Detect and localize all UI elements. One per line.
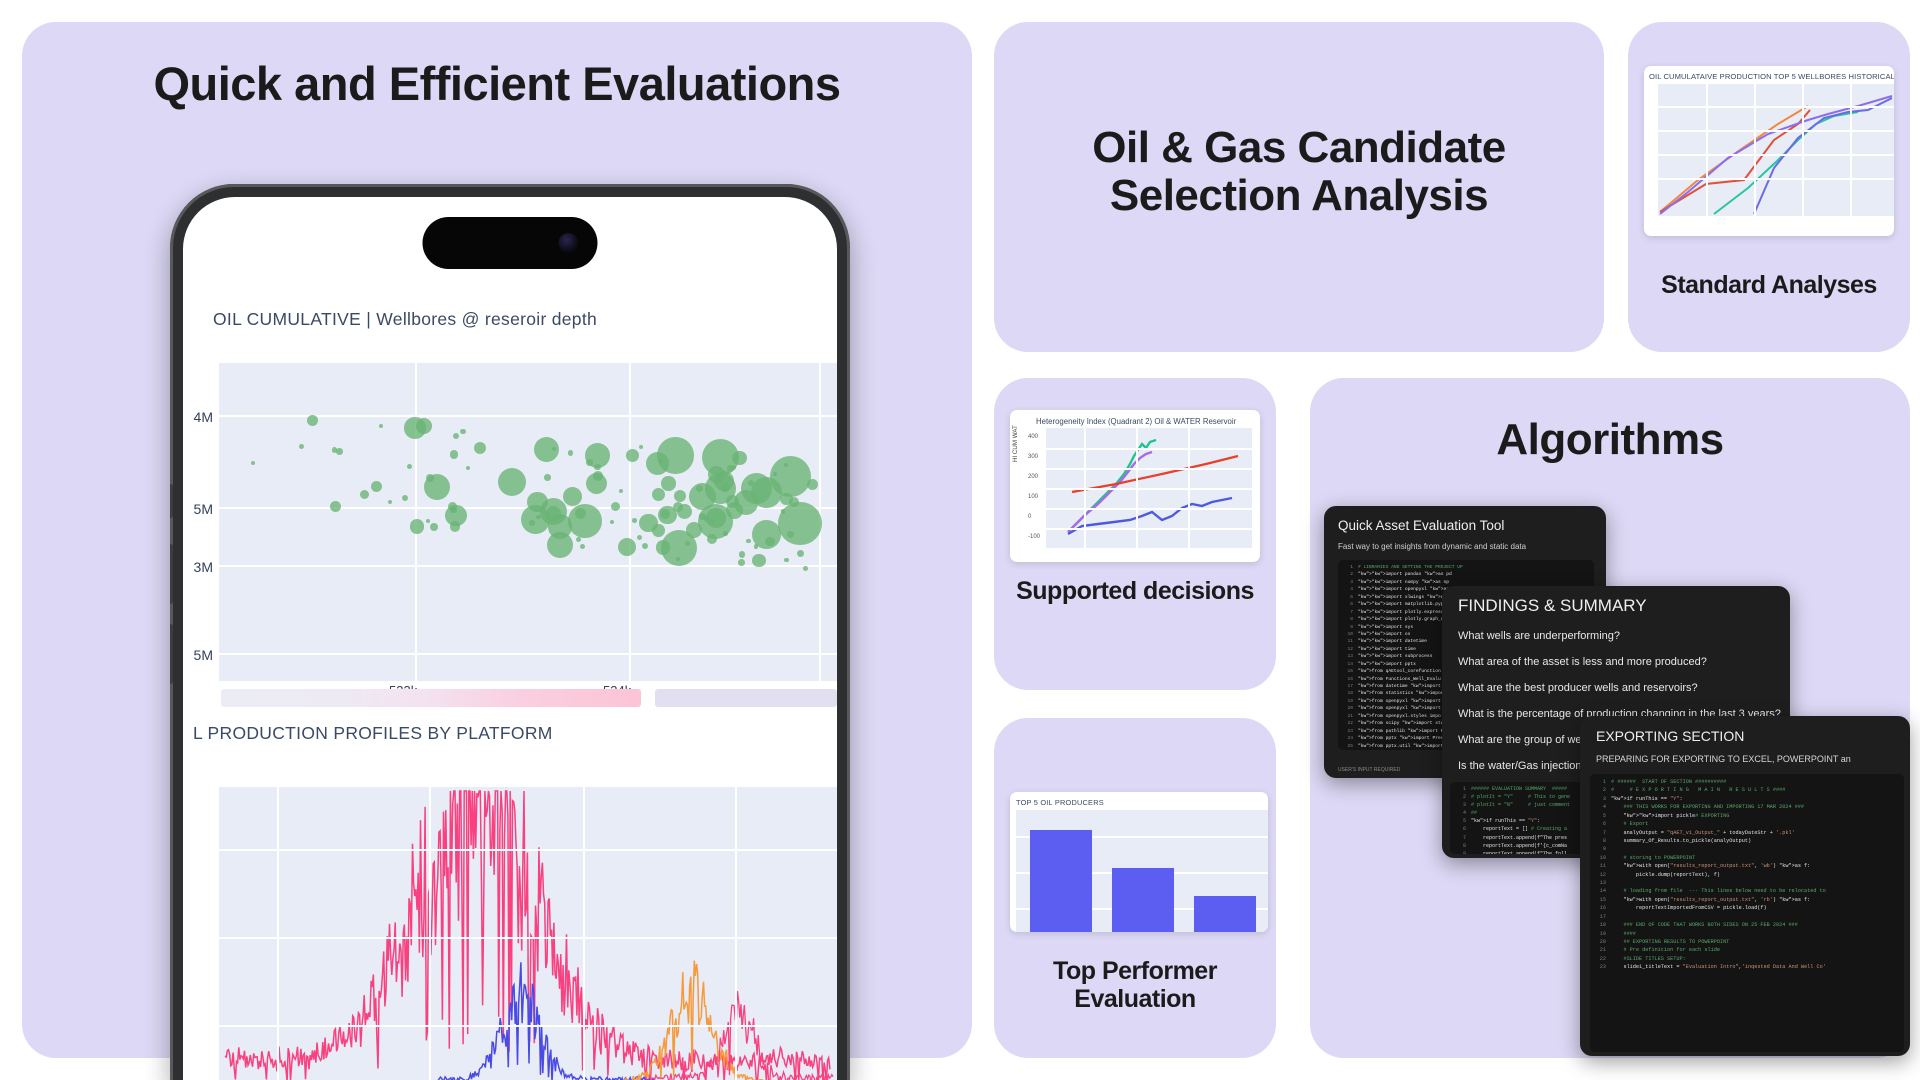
standard-analyses-chart-title: OIL CUMULATAIVE PRODUCTION TOP 5 WELLBOR… bbox=[1649, 72, 1894, 81]
ytick: 400 bbox=[1028, 434, 1038, 440]
gridline bbox=[219, 653, 837, 655]
bubble-point bbox=[611, 502, 620, 511]
bubble-point bbox=[660, 509, 670, 519]
gridline bbox=[1188, 428, 1190, 548]
window-findings-heading: FINDINGS & SUMMARY bbox=[1458, 596, 1647, 616]
bubble-point bbox=[445, 505, 467, 527]
bubble-point bbox=[656, 540, 671, 555]
bubble-point bbox=[416, 418, 432, 434]
bubble-point bbox=[371, 481, 382, 492]
bubble-point bbox=[738, 559, 745, 566]
bubble-point bbox=[424, 474, 450, 500]
phone-chart-1-ytick-3: 5M bbox=[183, 647, 213, 663]
bar-2 bbox=[1112, 868, 1174, 932]
gridline bbox=[1046, 468, 1252, 470]
phone-chart-2-title: L PRODUCTION PROFILES BY PLATFORM bbox=[193, 723, 553, 744]
gridline bbox=[277, 787, 279, 1080]
gridline bbox=[1046, 448, 1252, 450]
window-export-subheading: PREPARING FOR EXPORTING TO EXCEL, POWERP… bbox=[1596, 754, 1851, 764]
supported-decisions-plot bbox=[1046, 428, 1252, 548]
phone-chart-1-ytick-0: 4M bbox=[183, 409, 213, 425]
headline-title: Oil & Gas Candidate Selection Analysis bbox=[1024, 124, 1574, 221]
algorithms-title: Algorithms bbox=[1310, 416, 1910, 464]
bubble-point bbox=[307, 415, 318, 426]
supported-decisions-ylabel: HI CUM WAT bbox=[1012, 425, 1019, 462]
phone-chart-1-title: OIL CUMULATIVE | Wellbores @ reseroir de… bbox=[213, 309, 597, 330]
phone-power-button[interactable] bbox=[170, 624, 173, 684]
window-tool-footer-note: USER'S INPUT REQUIRED bbox=[1338, 767, 1400, 773]
top-performer-plot bbox=[1016, 810, 1268, 932]
ytick: 100 bbox=[1028, 494, 1038, 500]
window-tool-subheading: Fast way to get insights from dynamic an… bbox=[1338, 542, 1526, 551]
phone-volume-up-button[interactable] bbox=[170, 484, 173, 518]
bubble-point bbox=[778, 502, 822, 546]
standard-analyses-title: Standard Analyses bbox=[1628, 272, 1910, 300]
gridline bbox=[1084, 428, 1086, 548]
phone-screen: OIL CUMULATIVE | Wellbores @ reseroir de… bbox=[183, 197, 837, 1080]
gridline bbox=[1136, 428, 1138, 548]
bubble-point bbox=[407, 464, 412, 469]
bubble-point bbox=[741, 473, 772, 504]
bubble-point bbox=[739, 551, 746, 558]
bubble-point bbox=[336, 448, 343, 455]
bubble-point bbox=[332, 447, 337, 452]
bubble-point bbox=[784, 463, 788, 467]
supported-decisions-chart-title: Heterogeneity Index (Quadrant 2) Oil & W… bbox=[1036, 417, 1236, 426]
gridline bbox=[1706, 84, 1708, 216]
gridline bbox=[1658, 178, 1894, 180]
bubble-point bbox=[568, 450, 574, 456]
bubble-point bbox=[360, 490, 370, 500]
bubble-point bbox=[642, 543, 648, 549]
bubble-point bbox=[626, 449, 639, 462]
bubble-point bbox=[657, 437, 693, 473]
hero-card: Quick and Efficient Evaluations OIL CUMU… bbox=[22, 22, 972, 1058]
production-profile-lines bbox=[219, 787, 837, 1080]
bubble-point bbox=[765, 537, 775, 547]
ytick: 200 bbox=[1028, 474, 1038, 480]
gridline bbox=[1658, 106, 1894, 108]
ytick: -100 bbox=[1028, 534, 1040, 540]
window-exporting-section[interactable]: EXPORTING SECTION PREPARING FOR EXPORTIN… bbox=[1580, 716, 1910, 1056]
bubble-point bbox=[797, 550, 804, 557]
findings-question: What area of the asset is less and more … bbox=[1458, 656, 1784, 668]
phone-chart-1-ytick-1: 5M bbox=[183, 501, 213, 517]
top-performer-chart-title: TOP 5 OIL PRODUCERS bbox=[1016, 798, 1104, 807]
bubble-point bbox=[474, 442, 486, 454]
standard-analyses-series bbox=[1658, 84, 1894, 216]
top-performer-card[interactable]: TOP 5 OIL PRODUCERS Top Performer Evalua… bbox=[994, 718, 1276, 1058]
window-export-code: 1# ###### START OF SECTION ########## 2#… bbox=[1590, 774, 1904, 976]
bubble-point bbox=[632, 518, 637, 523]
phone-chart-production-profiles: L PRODUCTION PROFILES BY PLATFORM bbox=[183, 709, 837, 1080]
bubble-point bbox=[746, 539, 751, 544]
bubble-point bbox=[460, 429, 465, 434]
bubble-point bbox=[618, 538, 636, 556]
production-line bbox=[225, 791, 830, 1080]
phone-chart-2-plot bbox=[219, 787, 837, 1080]
bar-1 bbox=[1030, 830, 1092, 932]
bubble-point bbox=[770, 456, 812, 498]
gridline bbox=[1754, 84, 1756, 216]
gridline bbox=[735, 787, 737, 1080]
production-line bbox=[437, 962, 654, 1080]
bubble-point bbox=[498, 468, 527, 497]
bubble-point bbox=[674, 490, 686, 502]
bubble-point bbox=[402, 495, 408, 501]
supported-decisions-card[interactable]: Heterogeneity Index (Quadrant 2) Oil & W… bbox=[994, 378, 1276, 690]
bubble-point bbox=[586, 473, 607, 494]
bubble-point bbox=[251, 461, 255, 465]
bar-3 bbox=[1194, 896, 1256, 932]
bubble-point bbox=[576, 537, 581, 542]
bubble-point bbox=[727, 465, 734, 472]
bubble-point bbox=[330, 501, 341, 512]
bubble-point bbox=[726, 495, 739, 508]
findings-question: What are the best producer wells and res… bbox=[1458, 682, 1784, 694]
gridline bbox=[583, 787, 585, 1080]
top-performer-title: Top Performer Evaluation bbox=[994, 958, 1276, 1013]
algorithms-card: Algorithms Quick Asset Evaluation Tool F… bbox=[1310, 378, 1910, 1058]
bubble-point bbox=[580, 544, 585, 549]
bubble-point bbox=[563, 487, 582, 506]
bubble-point bbox=[430, 523, 438, 531]
bubble-point bbox=[661, 476, 675, 490]
bubble-point bbox=[685, 541, 690, 546]
bubble-point bbox=[379, 424, 383, 428]
standard-analyses-plot bbox=[1658, 84, 1894, 216]
phone-volume-down-button[interactable] bbox=[170, 544, 173, 604]
bubble-point bbox=[754, 544, 759, 549]
window-tool-heading: Quick Asset Evaluation Tool bbox=[1338, 518, 1504, 533]
bubble-point bbox=[299, 444, 304, 449]
top-performer-screenshot: TOP 5 OIL PRODUCERS bbox=[1010, 792, 1268, 932]
gridline bbox=[219, 565, 837, 567]
standard-analyses-card[interactable]: OIL CUMULATAIVE PRODUCTION TOP 5 WELLBOR… bbox=[1628, 22, 1910, 352]
bubble-point bbox=[450, 450, 458, 458]
gridline bbox=[1046, 488, 1252, 490]
gridline bbox=[1802, 84, 1804, 216]
bubble-point bbox=[723, 531, 728, 536]
bubble-point bbox=[704, 516, 710, 522]
bubble-point bbox=[707, 534, 717, 544]
ytick: 0 bbox=[1028, 514, 1031, 520]
chart-1-colorbar bbox=[221, 689, 641, 707]
bubble-point bbox=[803, 566, 808, 571]
bubble-point bbox=[610, 520, 614, 524]
chart-1-colorbar-secondary bbox=[655, 689, 837, 707]
bubble-point bbox=[410, 519, 424, 533]
bubble-point bbox=[677, 504, 692, 519]
bubble-point bbox=[388, 500, 392, 504]
supported-decisions-title: Supported decisions bbox=[994, 578, 1276, 606]
gridline bbox=[629, 363, 631, 681]
gridline bbox=[1658, 130, 1894, 132]
gridline bbox=[219, 937, 837, 939]
bubble-point bbox=[784, 558, 789, 563]
window-export-heading: EXPORTING SECTION bbox=[1596, 728, 1744, 744]
bubble-point bbox=[552, 447, 556, 451]
bubble-point bbox=[732, 451, 746, 465]
findings-question: What wells are underperforming? bbox=[1458, 630, 1784, 642]
gridline bbox=[1658, 154, 1894, 156]
gridline bbox=[429, 787, 431, 1080]
gridline bbox=[1850, 84, 1852, 216]
bubble-point bbox=[544, 474, 551, 481]
bubble-point bbox=[787, 531, 794, 538]
window-export-codebox[interactable]: 1# ###### START OF SECTION ########## 2#… bbox=[1590, 774, 1904, 1052]
headline-card: Oil & Gas Candidate Selection Analysis bbox=[994, 22, 1604, 352]
poster-canvas: Quick and Efficient Evaluations OIL CUMU… bbox=[0, 0, 1920, 1080]
bubble-point bbox=[652, 524, 665, 537]
front-camera-icon bbox=[559, 233, 579, 253]
bubble-point bbox=[466, 466, 470, 470]
supported-decisions-screenshot: Heterogeneity Index (Quadrant 2) Oil & W… bbox=[1010, 410, 1260, 562]
gridline bbox=[219, 1025, 837, 1027]
bubble-point bbox=[781, 509, 786, 514]
standard-analyses-screenshot: OIL CUMULATAIVE PRODUCTION TOP 5 WELLBOR… bbox=[1644, 66, 1894, 236]
bubble-point bbox=[426, 519, 430, 523]
phone-mockup: OIL CUMULATIVE | Wellbores @ reseroir de… bbox=[170, 184, 850, 1080]
phone-chart-1-ytick-2: 3M bbox=[183, 559, 213, 575]
phone-dynamic-island bbox=[423, 217, 598, 269]
gridline bbox=[1046, 508, 1252, 510]
gridline bbox=[219, 849, 837, 851]
ytick: 300 bbox=[1028, 454, 1038, 460]
bubble-point bbox=[619, 489, 623, 493]
hero-title: Quick and Efficient Evaluations bbox=[82, 58, 912, 110]
bubble-point bbox=[453, 433, 460, 440]
phone-chart-1-plot bbox=[219, 363, 837, 681]
bubble-point bbox=[639, 445, 643, 449]
bubble-point bbox=[546, 506, 561, 521]
phone-chart-oil-cumulative: OIL CUMULATIVE | Wellbores @ reseroir de… bbox=[183, 281, 837, 681]
gridline bbox=[1046, 528, 1252, 530]
bubble-point bbox=[637, 535, 643, 541]
